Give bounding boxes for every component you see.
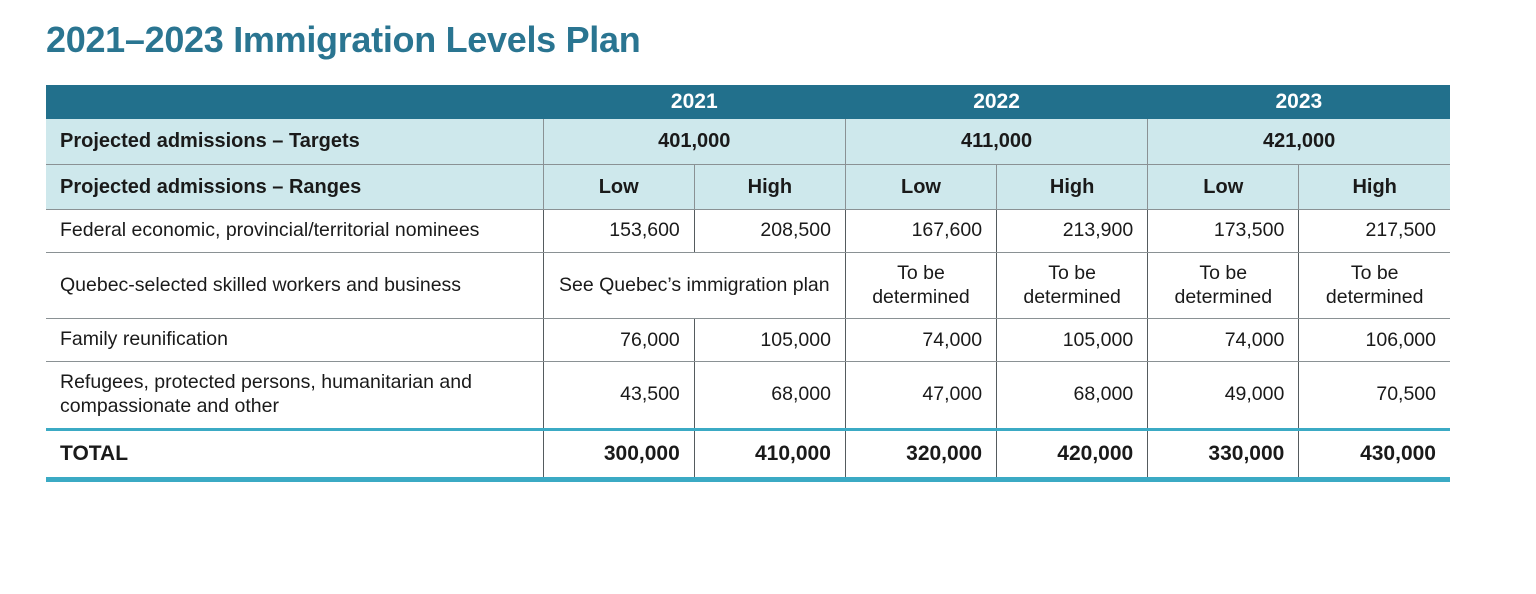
page-title: 2021–2023 Immigration Levels Plan <box>46 20 640 60</box>
cell-refugees-2022-high: 68,000 <box>997 362 1148 430</box>
cell-federal-2022-low: 167,600 <box>845 210 996 253</box>
targets-row-label: Projected admissions – Targets <box>46 119 543 165</box>
cell-family-2022-high: 105,000 <box>997 319 1148 362</box>
immigration-levels-table: 2021 2022 2023 Projected admissions – Ta… <box>46 85 1450 482</box>
cell-federal-2021-high: 208,500 <box>694 210 845 253</box>
cell-total-2022-high: 420,000 <box>997 429 1148 479</box>
cell-refugees-2021-low: 43,500 <box>543 362 694 430</box>
cell-total-2022-low: 320,000 <box>845 429 996 479</box>
cell-federal-2021-low: 153,600 <box>543 210 694 253</box>
cell-family-2021-high: 105,000 <box>694 319 845 362</box>
cell-total-2023-high: 430,000 <box>1299 429 1450 479</box>
targets-2023-value: 421,000 <box>1148 119 1450 165</box>
cell-quebec-2022-high: To be determined <box>997 252 1148 319</box>
immigration-levels-table-container: 2021 2022 2023 Projected admissions – Ta… <box>46 85 1450 482</box>
cell-total-2021-low: 300,000 <box>543 429 694 479</box>
targets-2022-value: 411,000 <box>845 119 1147 165</box>
ranges-2021-low-label: Low <box>543 165 694 210</box>
header-year-2023: 2023 <box>1148 85 1450 119</box>
table-row-total: TOTAL 300,000 410,000 320,000 420,000 33… <box>46 429 1450 479</box>
cell-family-2023-low: 74,000 <box>1148 319 1299 362</box>
targets-2021-value: 401,000 <box>543 119 845 165</box>
document-page: 2021–2023 Immigration Levels Plan 2021 2… <box>0 0 1536 594</box>
row-label-family-reunification: Family reunification <box>46 319 543 362</box>
ranges-2022-low-label: Low <box>845 165 996 210</box>
header-year-2022: 2022 <box>845 85 1147 119</box>
table-row: Family reunification 76,000 105,000 74,0… <box>46 319 1450 362</box>
table-row: Refugees, protected persons, humanitaria… <box>46 362 1450 430</box>
ranges-row-label: Projected admissions – Ranges <box>46 165 543 210</box>
table-row-targets: Projected admissions – Targets 401,000 4… <box>46 119 1450 165</box>
ranges-2023-high-label: High <box>1299 165 1450 210</box>
cell-quebec-2021-note: See Quebec’s immigration plan <box>543 252 845 319</box>
cell-refugees-2022-low: 47,000 <box>845 362 996 430</box>
ranges-2022-high-label: High <box>997 165 1148 210</box>
cell-family-2022-low: 74,000 <box>845 319 996 362</box>
cell-family-2021-low: 76,000 <box>543 319 694 362</box>
row-label-total: TOTAL <box>46 429 543 479</box>
cell-family-2023-high: 106,000 <box>1299 319 1450 362</box>
row-label-quebec-selected: Quebec-selected skilled workers and busi… <box>46 252 543 319</box>
cell-federal-2022-high: 213,900 <box>997 210 1148 253</box>
cell-federal-2023-low: 173,500 <box>1148 210 1299 253</box>
cell-refugees-2023-high: 70,500 <box>1299 362 1450 430</box>
table-row: Federal economic, provincial/territorial… <box>46 210 1450 253</box>
cell-federal-2023-high: 217,500 <box>1299 210 1450 253</box>
header-year-2021: 2021 <box>543 85 845 119</box>
ranges-2023-low-label: Low <box>1148 165 1299 210</box>
ranges-2021-high-label: High <box>694 165 845 210</box>
table-row: Quebec-selected skilled workers and busi… <box>46 252 1450 319</box>
cell-refugees-2023-low: 49,000 <box>1148 362 1299 430</box>
cell-total-2023-low: 330,000 <box>1148 429 1299 479</box>
cell-quebec-2023-low: To be determined <box>1148 252 1299 319</box>
row-label-federal-economic: Federal economic, provincial/territorial… <box>46 210 543 253</box>
table-header-years-row: 2021 2022 2023 <box>46 85 1450 119</box>
cell-total-2021-high: 410,000 <box>694 429 845 479</box>
cell-quebec-2023-high: To be determined <box>1299 252 1450 319</box>
cell-refugees-2021-high: 68,000 <box>694 362 845 430</box>
header-corner-cell <box>46 85 543 119</box>
cell-quebec-2022-low: To be determined <box>845 252 996 319</box>
table-row-ranges: Projected admissions – Ranges Low High L… <box>46 165 1450 210</box>
row-label-refugees: Refugees, protected persons, humanitaria… <box>46 362 543 430</box>
